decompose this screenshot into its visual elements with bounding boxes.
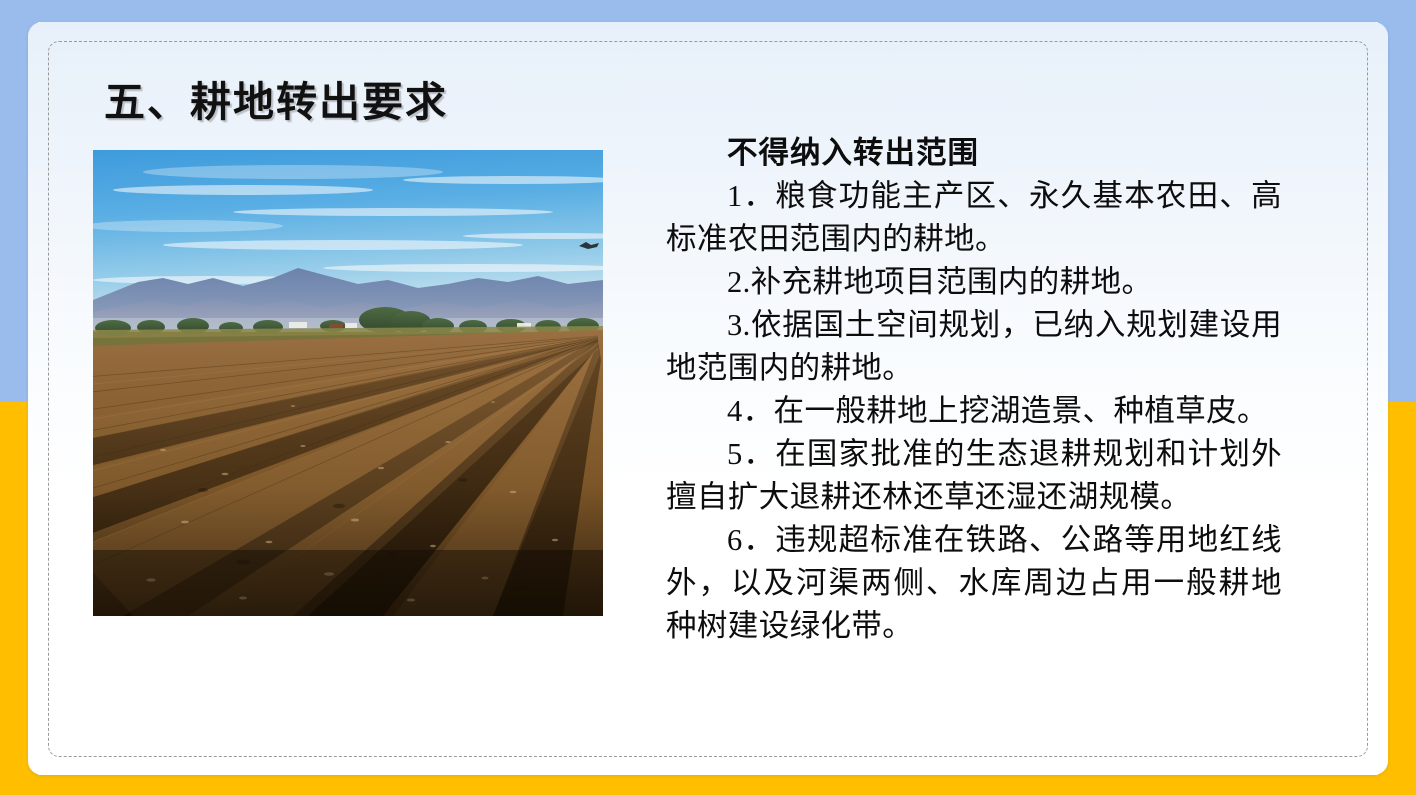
requirement-item-4: 4．在一般耕地上挖湖造景、种植草皮。 <box>666 390 1282 433</box>
slide-canvas: 五、耕地转出要求 <box>0 0 1416 795</box>
requirement-item-2: 2.补充耕地项目范围内的耕地。 <box>666 261 1282 304</box>
requirement-item-5: 5．在国家批准的生态退耕规划和计划外擅自扩大退耕还林还草还湿还湖规模。 <box>666 433 1282 519</box>
requirement-item-3: 3.依据国土空间规划，已纳入规划建设用地范围内的耕地。 <box>666 304 1282 390</box>
farmland-photo <box>93 150 603 616</box>
requirements-text-block: 不得纳入转出范围 1．粮食功能主产区、永久基本农田、高标准农田范围内的耕地。 2… <box>666 132 1282 648</box>
decor-band-top-blue <box>0 0 1416 22</box>
page-title: 五、耕地转出要求 <box>104 68 448 128</box>
requirements-lead: 不得纳入转出范围 <box>666 132 1282 175</box>
requirement-item-6: 6．违规超标准在铁路、公路等用地红线外，以及河渠两侧、水库周边占用一般耕地种树建… <box>666 519 1282 648</box>
farmland-photo-illustration <box>93 150 603 616</box>
requirement-item-1: 1．粮食功能主产区、永久基本农田、高标准农田范围内的耕地。 <box>666 175 1282 261</box>
decor-band-bottom-yellow <box>0 775 1416 795</box>
